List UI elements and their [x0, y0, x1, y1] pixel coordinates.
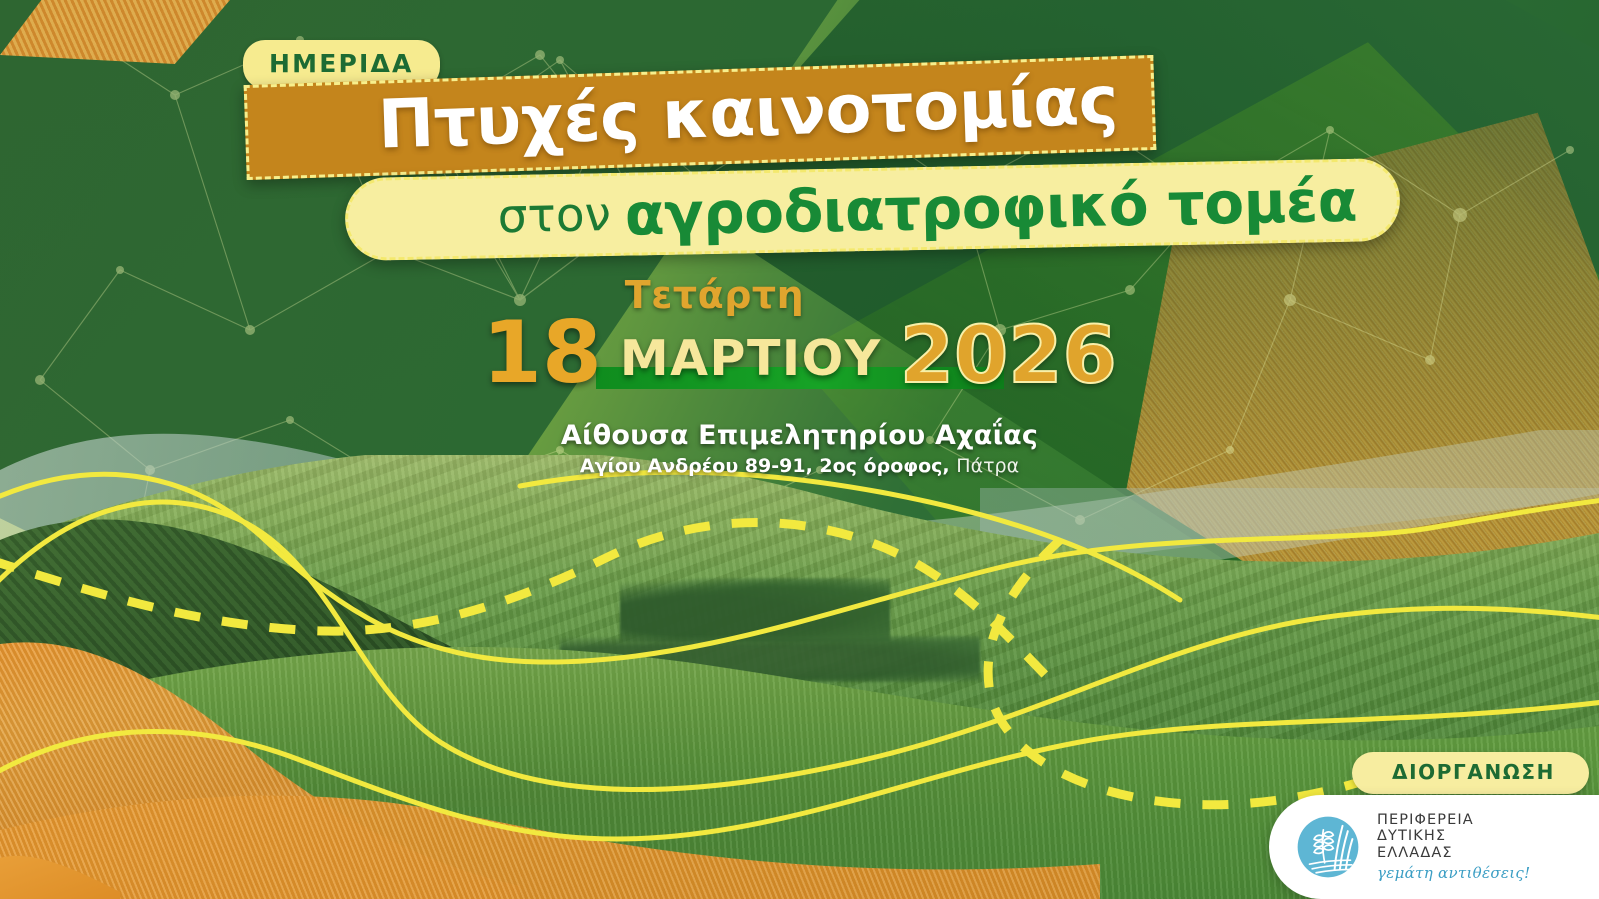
- event-poster: ΗΜΕΡΙΔΑ Πτυχές καινοτομίας στον αγροδιατ…: [0, 0, 1599, 899]
- venue-city: Πάτρα: [956, 455, 1019, 477]
- venue-street: Αγίου Ανδρέου 89-91, 2ος όροφος,: [580, 455, 950, 477]
- venue-address-line: Αγίου Ανδρέου 89-91, 2ος όροφος, Πάτρα: [0, 455, 1599, 477]
- organizer-logo-card: ΠΕΡΙΦΕΡΕΙΑ ΔΥΤΙΚΗΣ ΕΛΛΑΔΑΣ γεμάτη αντιθέ…: [1269, 795, 1599, 899]
- organizer-name-line3: ΕΛΛΑΔΑΣ: [1377, 845, 1530, 862]
- date-row: 18 ΜΑΡΤΙΟΥ 2026: [0, 314, 1599, 393]
- venue-hall: Αίθουσα Επιμελητηρίου Αχαΐας: [0, 420, 1599, 451]
- date-weekday: Τετάρτη: [0, 276, 1599, 316]
- subtitle-main: αγροδιατροφικό τομέα: [624, 166, 1357, 248]
- subtitle-prefix: στον: [497, 187, 611, 244]
- date-month: ΜΑΡΤΙΟΥ: [620, 334, 882, 393]
- title-text: Πτυχές καινοτομίας: [377, 67, 1119, 158]
- event-date: Τετάρτη 18 ΜΑΡΤΙΟΥ 2026: [0, 276, 1599, 393]
- landscape-tree-clump: [620, 578, 890, 642]
- region-of-western-greece-logo-icon: [1295, 814, 1361, 880]
- organizer-name-line1: ΠΕΡΙΦΕΡΕΙΑ: [1377, 812, 1530, 829]
- organizer-name: ΠΕΡΙΦΕΡΕΙΑ ΔΥΤΙΚΗΣ ΕΛΛΑΔΑΣ γεμάτη αντιθέ…: [1377, 812, 1530, 883]
- organizer-name-line2: ΔΥΤΙΚΗΣ: [1377, 828, 1530, 845]
- event-venue: Αίθουσα Επιμελητηρίου Αχαΐας Αγίου Ανδρέ…: [0, 420, 1599, 477]
- date-day: 18: [482, 314, 602, 393]
- organizer-badge: ΔΙΟΡΓΑΝΩΣΗ: [1352, 752, 1589, 794]
- date-year: 2026: [900, 319, 1117, 393]
- organizer-slogan: γεμάτη αντιθέσεις!: [1377, 865, 1530, 882]
